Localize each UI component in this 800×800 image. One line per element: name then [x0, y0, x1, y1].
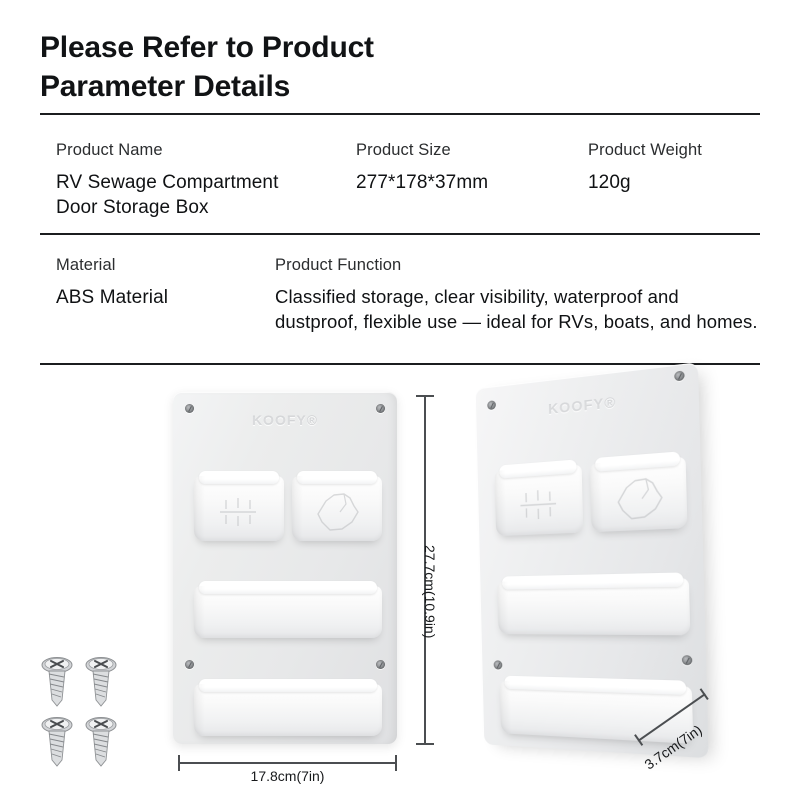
pocket-bevel: [495, 470, 507, 536]
upper-right-pocket: [292, 476, 382, 541]
spec-material-label: Material: [56, 255, 266, 276]
spec-product-weight: Product Weight 120g: [588, 140, 768, 195]
screw-hole-top-right: [674, 370, 684, 381]
angled-view: KOOFY®: [476, 362, 709, 758]
brand-emboss-text: KOOFY®: [173, 412, 397, 428]
spec-material-value: ABS Material: [56, 285, 266, 310]
spec-product-weight-label: Product Weight: [588, 140, 768, 161]
divider-bottom: [40, 363, 760, 365]
spec-product-name-label: Product Name: [56, 140, 356, 161]
upper-left-pocket: [194, 476, 284, 541]
upper-left-pocket-angled: [495, 464, 584, 536]
pocket-slot: [504, 676, 686, 695]
screw-hole-bottom-left: [494, 660, 503, 669]
spec-product-size: Product Size 277*178*37mm: [356, 140, 586, 195]
plug-icon: [518, 487, 558, 522]
page-title: Please Refer to Product Parameter Detail…: [40, 28, 660, 106]
pocket-bevel: [194, 684, 205, 736]
middle-pocket: [194, 586, 382, 638]
screw-hole-bottom-right: [376, 660, 385, 669]
upper-right-pocket-angled: [590, 456, 688, 532]
spec-product-size-value: 277*178*37mm: [356, 170, 586, 195]
product-image-area: KOOFY®: [0, 372, 800, 800]
pocket-slot: [199, 581, 377, 594]
spec-product-weight-value: 120g: [588, 170, 768, 195]
spec-product-size-label: Product Size: [356, 140, 586, 161]
glove-icon: [611, 475, 669, 521]
plug-icon: [218, 496, 258, 528]
pocket-slot: [199, 471, 279, 484]
mounting-screws: [38, 656, 134, 772]
front-view: KOOFY®: [173, 392, 397, 744]
pocket-slot: [502, 572, 683, 589]
screw-hole-top-left: [185, 404, 194, 413]
screw-icon: [84, 656, 118, 708]
pocket-slot: [499, 459, 576, 478]
screw-icon: [84, 716, 118, 768]
spec-product-function-label: Product Function: [275, 255, 765, 276]
pocket-bevel: [497, 581, 509, 634]
divider-middle: [40, 233, 760, 235]
screw-hole-bottom-right: [682, 655, 693, 665]
divider-top: [40, 113, 760, 115]
pocket-bevel: [590, 463, 603, 532]
width-dimension-label: 17.8cm(7in): [178, 768, 397, 784]
screw-icon: [40, 716, 74, 768]
pocket-slot: [199, 679, 377, 692]
brand-emboss-text-angled: KOOFY®: [476, 384, 699, 424]
pocket-slot: [297, 471, 377, 484]
pocket-bevel: [194, 586, 205, 638]
pocket-slot: [595, 451, 680, 471]
bottom-pocket-angled: [500, 681, 694, 744]
spec-product-function: Product Function Classified storage, cle…: [275, 255, 765, 334]
spec-product-name: Product Name RV Sewage Compartment Door …: [56, 140, 356, 220]
bottom-pocket: [194, 684, 382, 736]
middle-pocket-angled: [497, 578, 690, 636]
width-dimension-line: [178, 762, 397, 764]
angled-view-plate: KOOFY®: [476, 362, 709, 758]
glove-icon: [312, 492, 364, 532]
spec-material: Material ABS Material: [56, 255, 266, 310]
pocket-bevel: [292, 476, 303, 541]
spec-product-function-value: Classified storage, clear visibility, wa…: [275, 284, 765, 334]
screw-icon: [40, 656, 74, 708]
height-dimension-label: 27.7cm(10.9in): [422, 545, 438, 638]
screw-hole-top-right: [376, 404, 385, 413]
pocket-bevel: [194, 476, 205, 541]
spec-product-name-value: RV Sewage Compartment Door Storage Box: [56, 170, 356, 220]
screw-hole-bottom-left: [185, 660, 194, 669]
pocket-bevel: [500, 681, 512, 734]
